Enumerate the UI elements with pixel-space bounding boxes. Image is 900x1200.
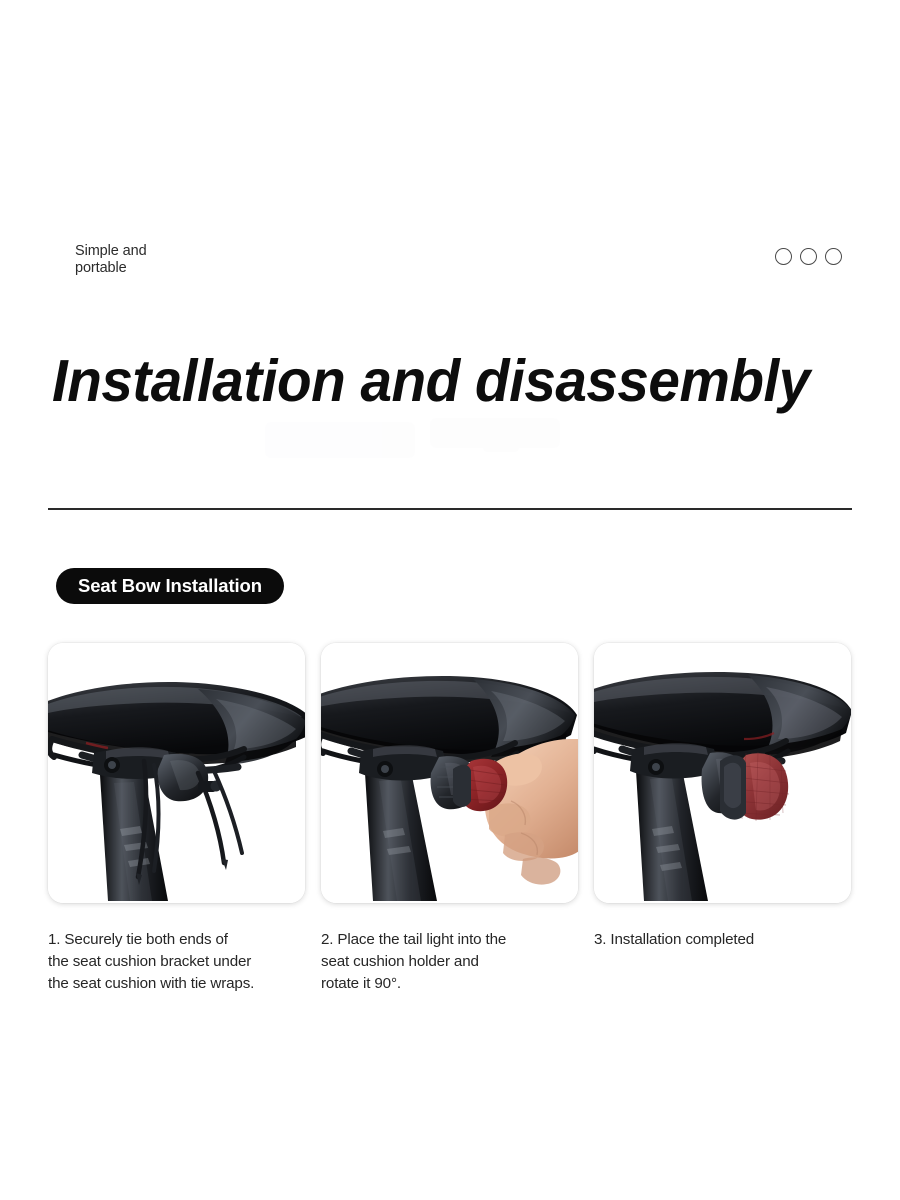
step-panel-1: 1. Securely tie both ends of the seat cu…: [48, 643, 305, 995]
step-panel-3: 3. Installation completed: [594, 643, 851, 995]
step-caption-1: 1. Securely tie both ends of the seat cu…: [48, 929, 305, 995]
step-image-1: [48, 643, 305, 903]
pagination-dots[interactable]: [775, 248, 842, 265]
hand-inserting-taillight-photo: [321, 643, 578, 903]
page-title: Installation and disassembly: [52, 344, 839, 418]
product-instruction-page: Simple and portable Installation and dis…: [0, 0, 900, 1200]
dot-indicator-2[interactable]: [800, 248, 817, 265]
watermark-ghost: [255, 418, 655, 464]
dot-indicator-3[interactable]: [825, 248, 842, 265]
status-badge: Seat Bow Installation: [56, 568, 284, 604]
taillight-installed-photo: [594, 643, 851, 903]
step-panel-2: 2. Place the tail light into the seat cu…: [321, 643, 578, 995]
step-image-2: [321, 643, 578, 903]
step-caption-2: 2. Place the tail light into the seat cu…: [321, 929, 578, 995]
dot-indicator-1[interactable]: [775, 248, 792, 265]
kicker-text: Simple and portable: [75, 243, 147, 277]
step-image-3: [594, 643, 851, 903]
section-divider: [48, 508, 852, 510]
saddle-bracket-photo: [48, 643, 305, 903]
step-panels: 1. Securely tie both ends of the seat cu…: [48, 643, 852, 995]
step-caption-3: 3. Installation completed: [594, 929, 851, 951]
